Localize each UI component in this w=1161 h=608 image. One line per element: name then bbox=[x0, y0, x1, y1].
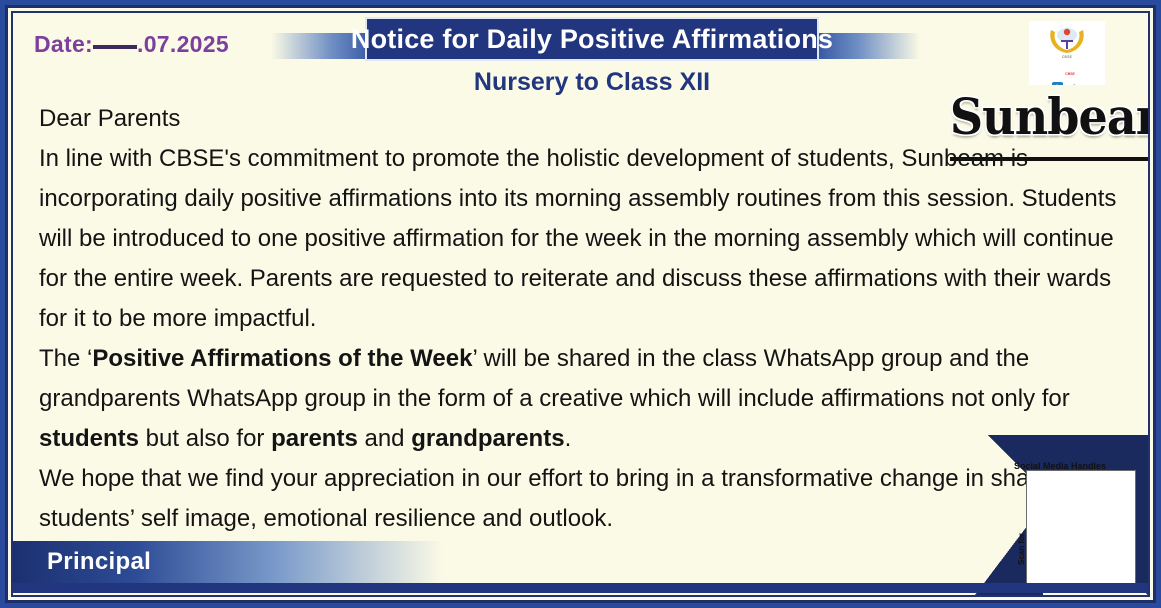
body-paragraph-1: In line with CBSE's commitment to promot… bbox=[39, 139, 1144, 339]
date-suffix: .07.2025 bbox=[137, 31, 229, 57]
body-paragraph-3: We hope that we find your appreciation i… bbox=[39, 459, 1144, 539]
qr-code-image[interactable] bbox=[1026, 470, 1136, 587]
p2-text-3: but also for bbox=[139, 425, 271, 452]
cbse-crest-icon bbox=[1046, 24, 1088, 56]
p2-text-1: The ‘ bbox=[39, 345, 92, 372]
p2-text-4: and bbox=[358, 425, 411, 452]
document-inner-frame: Date:.07.2025 Notice for Daily Positive … bbox=[11, 11, 1150, 597]
salutation: Dear Parents bbox=[39, 99, 1144, 139]
cbse-eduserve-emblem: CBSE Powered by CBSE eduserve Transformi… bbox=[1029, 21, 1105, 85]
date-line: Date:.07.2025 bbox=[34, 31, 229, 58]
date-label: Date: bbox=[34, 31, 93, 57]
footer-rule bbox=[13, 583, 1148, 593]
p2-bold-3: parents bbox=[271, 425, 358, 452]
notice-subtitle: Nursery to Class XII bbox=[365, 68, 819, 97]
eduserve-name: eduserve bbox=[1065, 83, 1102, 85]
eduserve-logo: Powered by CBSE eduserve Transforming Ed… bbox=[1029, 63, 1105, 85]
date-blank-field[interactable] bbox=[93, 45, 137, 49]
p2-text-5: . bbox=[565, 425, 572, 452]
p2-bold-2: students bbox=[39, 425, 139, 452]
eduserve-mark-icon bbox=[1052, 82, 1063, 86]
signature-bar: Principal bbox=[13, 541, 443, 583]
eduserve-cbse-label: CBSE bbox=[1065, 72, 1075, 76]
notice-body: Dear Parents In line with CBSE's commitm… bbox=[39, 99, 1144, 539]
body-paragraph-2: The ‘Positive Affirmations of the Week’ … bbox=[39, 339, 1144, 459]
p2-bold-1: Positive Affirmations of the Week bbox=[92, 345, 472, 372]
notice-document: Date:.07.2025 Notice for Daily Positive … bbox=[0, 0, 1161, 608]
signature-label: Principal bbox=[13, 548, 151, 576]
emblem-caption: CBSE bbox=[1029, 55, 1105, 59]
p2-bold-4: grandparents bbox=[411, 425, 564, 452]
qr-scan-label: Scan for bbox=[1017, 533, 1026, 565]
notice-title: Notice for Daily Positive Affirmations bbox=[351, 24, 833, 55]
notice-title-banner: Notice for Daily Positive Affirmations bbox=[365, 17, 819, 61]
eduserve-wordmark: CBSE eduserve Transforming Education bbox=[1065, 63, 1102, 85]
